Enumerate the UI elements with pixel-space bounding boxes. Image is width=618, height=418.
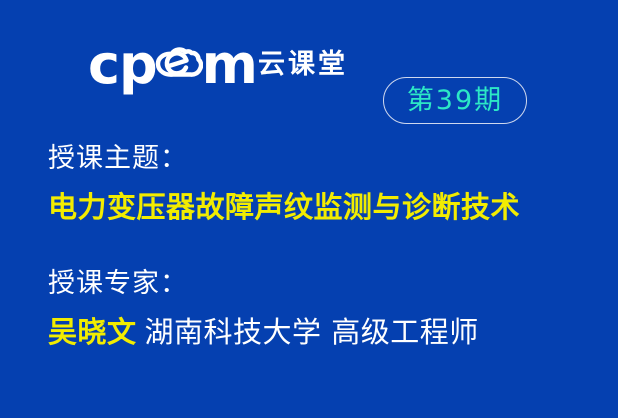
cloud-e-icon bbox=[155, 47, 203, 89]
topic-title: 电力变压器故障声纹监测与诊断技术 bbox=[48, 190, 520, 224]
logo-letters-before: cp bbox=[88, 38, 157, 92]
slide-header: cp m 云课堂 第39期 bbox=[0, 36, 618, 94]
topic-block: 授课主题： 电力变压器故障声纹监测与诊断技术 bbox=[48, 142, 520, 224]
expert-label: 授课专家： bbox=[48, 267, 479, 301]
logo-letters-after: m bbox=[202, 38, 257, 92]
brand-logo: cp m bbox=[88, 36, 257, 94]
brand-subtitle: 云课堂 bbox=[258, 50, 348, 80]
expert-block: 授课专家： 吴晓文湖南科技大学 高级工程师 bbox=[48, 267, 479, 349]
presentation-slide: cp m 云课堂 第39期 授课主题： 电力变压器故障声纹监测与诊断技术 授课专… bbox=[0, 0, 618, 418]
topic-label: 授课主题： bbox=[48, 142, 520, 176]
expert-affiliation: 湖南科技大学 高级工程师 bbox=[145, 315, 479, 349]
issue-badge-label: 第39期 bbox=[407, 87, 503, 114]
expert-name: 吴晓文 bbox=[48, 315, 137, 349]
issue-badge: 第39期 bbox=[383, 77, 527, 124]
expert-line: 吴晓文湖南科技大学 高级工程师 bbox=[48, 315, 479, 349]
